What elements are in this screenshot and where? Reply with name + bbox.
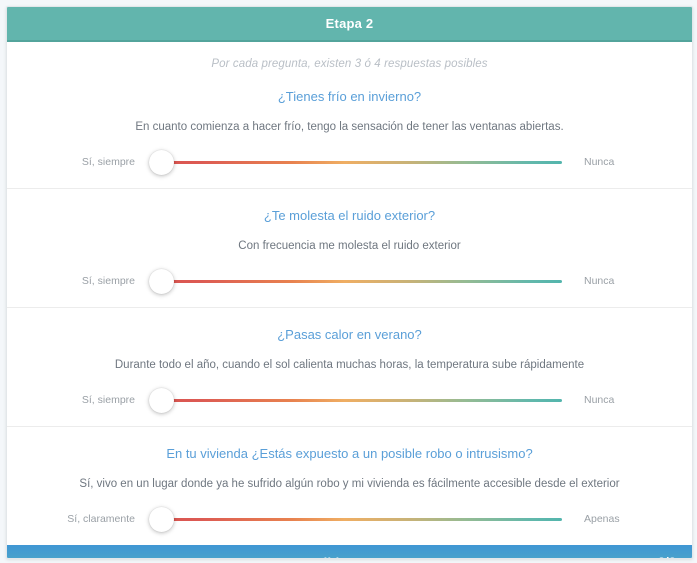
question-block: En tu vivienda ¿Estás expuesto a un posi… [7,427,692,545]
question-block: ¿Pasas calor en verano? Durante todo el … [7,308,692,427]
question-title: En tu vivienda ¿Estás expuesto a un posi… [21,445,678,463]
slider-track[interactable] [159,161,562,164]
slider-right-label: Nunca [584,394,662,406]
slider-track[interactable] [159,399,562,402]
slider-handle[interactable] [149,388,174,413]
question-block: ¿Tienes frío en invierno? En cuanto comi… [7,70,692,189]
stage-title: Etapa 2 [326,16,374,31]
intro-text: Por cada pregunta, existen 3 ó 4 respues… [7,42,692,70]
question-answer: Sí, vivo en un lugar donde ya he sufrido… [21,476,678,492]
question-title: ¿Pasas calor en verano? [21,326,678,344]
question-answer: Con frecuencia me molesta el ruido exter… [21,238,678,254]
stage-header: Etapa 2 [7,7,692,42]
slider-right-label: Nunca [584,156,662,168]
slider-handle[interactable] [149,507,174,532]
validate-stage-label: Validar etapa [308,555,391,560]
question-answer: Durante todo el año, cuando el sol calie… [21,357,678,373]
question-list: ¿Tienes frío en invierno? En cuanto comi… [7,70,692,545]
slider-right-label: Nunca [584,275,662,287]
questionnaire-page: Etapa 2 Por cada pregunta, existen 3 ó 4… [0,0,697,563]
slider-right-label: Apenas [584,513,662,525]
slider-left-label: Sí, siempre [57,275,135,287]
slider[interactable] [149,267,562,295]
question-block: ¿Te molesta el ruido exterior? Con frecu… [7,189,692,308]
slider-row: Sí, claramente Apenas [21,505,678,533]
slider-handle[interactable] [149,150,174,175]
slider-left-label: Sí, siempre [57,394,135,406]
slider-track[interactable] [159,518,562,521]
slider-row: Sí, siempre Nunca [21,386,678,414]
slider-handle[interactable] [149,269,174,294]
slider[interactable] [149,386,562,414]
stage-card: Etapa 2 Por cada pregunta, existen 3 ó 4… [6,6,693,559]
slider[interactable] [149,148,562,176]
slider-left-label: Sí, claramente [57,513,135,525]
slider-left-label: Sí, siempre [57,156,135,168]
slider-row: Sí, siempre Nunca [21,267,678,295]
slider[interactable] [149,505,562,533]
stage-body: Por cada pregunta, existen 3 ó 4 respues… [7,42,692,545]
stage-counter: 2/3 [658,555,676,560]
question-answer: En cuanto comienza a hacer frío, tengo l… [21,119,678,135]
question-title: ¿Te molesta el ruido exterior? [21,207,678,225]
slider-row: Sí, siempre Nunca [21,148,678,176]
slider-track[interactable] [159,280,562,283]
question-title: ¿Tienes frío en invierno? [21,88,678,106]
validate-stage-button[interactable]: Validar etapa 2/3 [7,545,692,559]
